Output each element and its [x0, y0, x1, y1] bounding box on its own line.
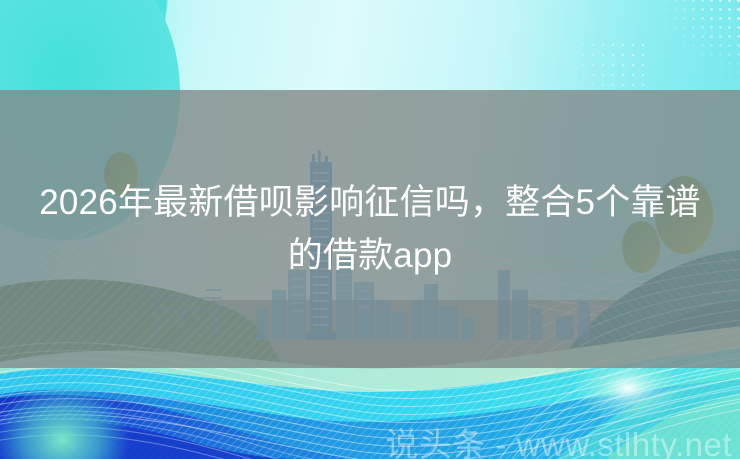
tree-oval-right-large	[655, 176, 713, 254]
tree-oval-left	[104, 152, 138, 196]
tree-oval-right-small	[622, 221, 660, 273]
landscape-scene	[0, 150, 740, 459]
site-watermark: 说头条 - www.stlhty.net	[385, 425, 732, 459]
halftone-dot-pattern-secondary	[558, 40, 648, 130]
article-cover-banner: 2026年最新借呗影响征信吗，整合5个靠谱的借款app 说头条 - www.st…	[0, 0, 740, 459]
light-burst	[572, 354, 684, 422]
